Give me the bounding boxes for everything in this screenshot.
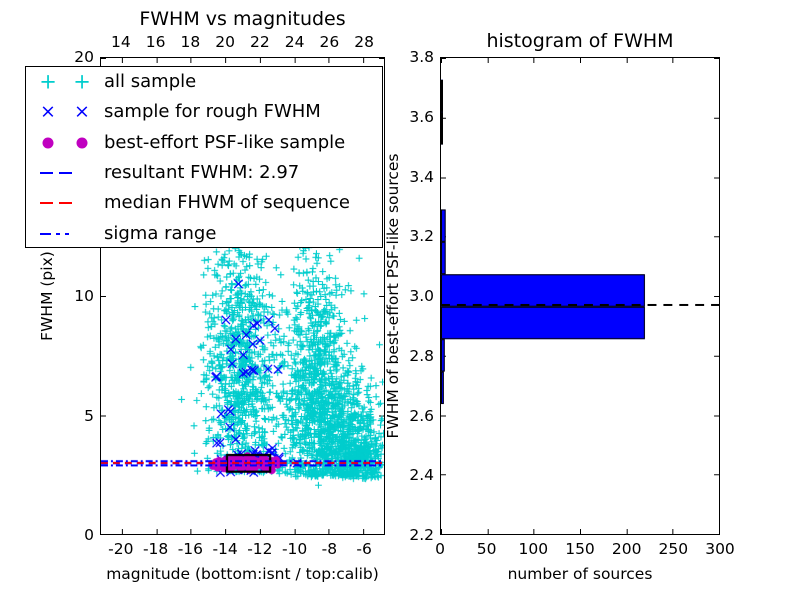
histogram-x-axis-label: number of sources xyxy=(440,565,720,583)
histogram-xtick-5: 250 xyxy=(659,540,689,558)
histogram-canvas xyxy=(441,58,719,534)
scatter-x-axis-label: magnitude (bottom:isnt / top:calib) xyxy=(100,565,385,583)
histogram-xtick-4: 200 xyxy=(612,540,642,558)
scatter-ytick-3: 20 xyxy=(42,48,94,66)
scatter-xtick-0: -20 xyxy=(108,540,133,558)
legend-marker-cross-icon: ×× xyxy=(26,97,104,127)
legend-entry-4: median FHWM of sequence xyxy=(26,188,382,218)
legend-marker-dashed-line-icon xyxy=(26,158,104,188)
scatter-plot-title: FWHM vs magnitudes xyxy=(100,8,385,30)
histogram-ytick-8: 3.8 xyxy=(382,48,434,66)
legend-marker-glyph xyxy=(43,137,54,148)
legend-label: median FHWM of sequence xyxy=(104,194,350,212)
figure-canvas: FWHM vs magnitudes magnitude (bottom:isn… xyxy=(0,0,800,600)
legend-line-segment xyxy=(59,172,72,174)
legend-entry-3: resultant FWHM: 2.97 xyxy=(26,158,382,188)
scatter-xtick-7: -6 xyxy=(356,540,371,558)
legend-label: best-effort PSF-like sample xyxy=(104,134,345,152)
scatter-plot-legend: ++all sample××sample for rough FWHMbest-… xyxy=(25,66,383,248)
legend-label: sample for rough FWHM xyxy=(104,103,321,121)
scatter-xtick-1: -18 xyxy=(143,540,168,558)
legend-marker-glyph: × xyxy=(40,103,56,122)
legend-label: sigma range xyxy=(104,225,216,243)
scatter-xtick-top-5: 24 xyxy=(285,33,305,51)
legend-marker-glyph: + xyxy=(39,72,57,93)
legend-line-segment xyxy=(40,202,53,204)
histogram-xtick-3: 150 xyxy=(565,540,595,558)
legend-entry-2: best-effort PSF-like sample xyxy=(26,128,382,158)
scatter-xtick-top-3: 20 xyxy=(215,33,235,51)
legend-line-segment xyxy=(59,202,72,204)
scatter-xtick-3: -14 xyxy=(212,540,237,558)
legend-marker-dashed-line-icon xyxy=(26,188,104,218)
histogram-title: histogram of FWHM xyxy=(440,30,720,52)
legend-entry-5: sigma range xyxy=(26,219,382,249)
legend-label: all sample xyxy=(104,73,196,91)
legend-marker-plus-icon: ++ xyxy=(26,67,104,97)
scatter-xtick-top-6: 26 xyxy=(320,33,340,51)
legend-marker-glyph: × xyxy=(74,103,90,122)
scatter-xtick-2: -16 xyxy=(178,540,203,558)
scatter-xtick-6: -8 xyxy=(322,540,337,558)
histogram-axes xyxy=(440,57,720,535)
legend-label: resultant FWHM: 2.97 xyxy=(104,164,299,182)
legend-line-segment xyxy=(56,233,60,235)
histogram-ytick-0: 2.2 xyxy=(382,526,434,544)
scatter-ytick-1: 5 xyxy=(42,407,94,425)
histogram-ytick-1: 2.4 xyxy=(382,466,434,484)
histogram-xtick-1: 50 xyxy=(477,540,497,558)
legend-entry-1: ××sample for rough FWHM xyxy=(26,97,382,127)
scatter-xtick-top-4: 22 xyxy=(250,33,270,51)
histogram-ytick-3: 2.8 xyxy=(382,347,434,365)
histogram-ytick-7: 3.6 xyxy=(382,108,434,126)
legend-marker-glyph xyxy=(77,137,88,148)
scatter-ytick-0: 0 xyxy=(42,526,94,544)
scatter-xtick-top-1: 16 xyxy=(146,33,166,51)
legend-marker-dashdot-line-icon xyxy=(26,219,104,249)
scatter-xtick-top-2: 18 xyxy=(180,33,200,51)
histogram-ytick-4: 3.0 xyxy=(382,287,434,305)
scatter-xtick-top-7: 28 xyxy=(354,33,374,51)
legend-marker-dot-icon xyxy=(26,128,104,158)
histogram-ytick-6: 3.4 xyxy=(382,168,434,186)
scatter-ytick-2: 10 xyxy=(42,287,94,305)
scatter-xtick-top-0: 14 xyxy=(111,33,131,51)
legend-line-segment xyxy=(40,233,51,235)
histogram-xtick-2: 100 xyxy=(519,540,549,558)
histogram-ytick-2: 2.6 xyxy=(382,407,434,425)
legend-marker-glyph: + xyxy=(73,72,91,93)
legend-entry-0: ++all sample xyxy=(26,67,382,97)
legend-line-segment xyxy=(65,233,69,235)
histogram-xtick-0: 0 xyxy=(435,540,445,558)
scatter-xtick-5: -10 xyxy=(282,540,307,558)
histogram-ytick-5: 3.2 xyxy=(382,227,434,245)
histogram-xtick-6: 300 xyxy=(705,540,735,558)
legend-line-segment xyxy=(40,172,53,174)
scatter-xtick-4: -12 xyxy=(247,540,272,558)
